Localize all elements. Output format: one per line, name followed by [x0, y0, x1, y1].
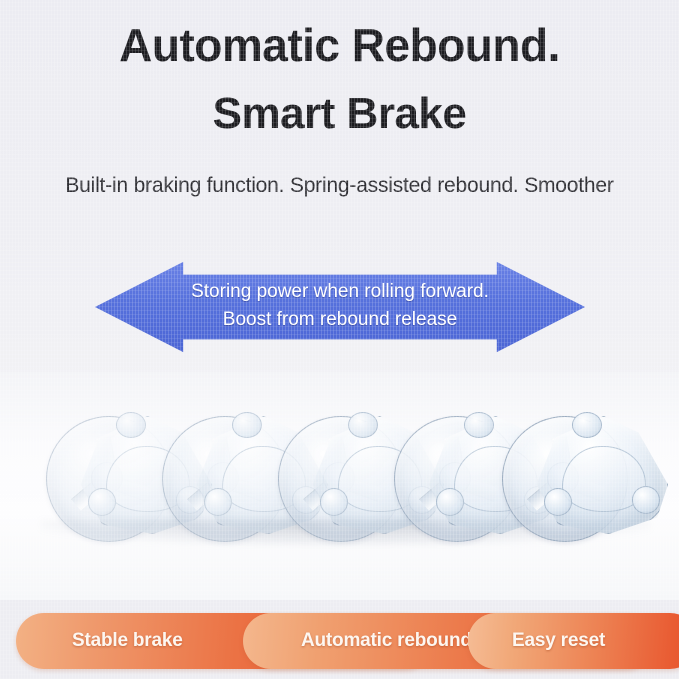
arrow-banner-text: Storing power when rolling forward. Boos…	[95, 278, 585, 334]
caster-nub-top	[464, 412, 494, 438]
caster-nub-right	[632, 486, 660, 514]
feature-pill-easy-reset[interactable]: Easy reset	[468, 613, 679, 669]
caster-nub-left	[320, 488, 348, 516]
subtitle-text: Built-in braking function. Spring-assist…	[0, 174, 679, 198]
arrow-banner: Storing power when rolling forward. Boos…	[95, 258, 585, 356]
caster-nub-top	[232, 412, 262, 438]
product-photo	[0, 372, 679, 600]
caster-nub-top	[348, 412, 378, 438]
caster-nub-top	[572, 412, 602, 438]
caster-nub-left	[544, 488, 572, 516]
product-feature-banner: Automatic Rebound. Smart Brake Built-in …	[0, 0, 679, 679]
caster-nub-left	[204, 488, 232, 516]
feature-pill-bar: Stable brake Automatic rebound Easy rese…	[0, 600, 679, 679]
page-title-line-2: Smart Brake	[0, 92, 679, 136]
caster-nub-top	[116, 412, 146, 438]
caster-nub-left	[436, 488, 464, 516]
page-title-line-1: Automatic Rebound.	[0, 22, 679, 68]
caster-wheel-5	[500, 410, 668, 542]
arrow-banner-line-1: Storing power when rolling forward.	[95, 278, 585, 306]
arrow-banner-line-2: Boost from rebound release	[95, 306, 585, 334]
caster-nub-left	[88, 488, 116, 516]
